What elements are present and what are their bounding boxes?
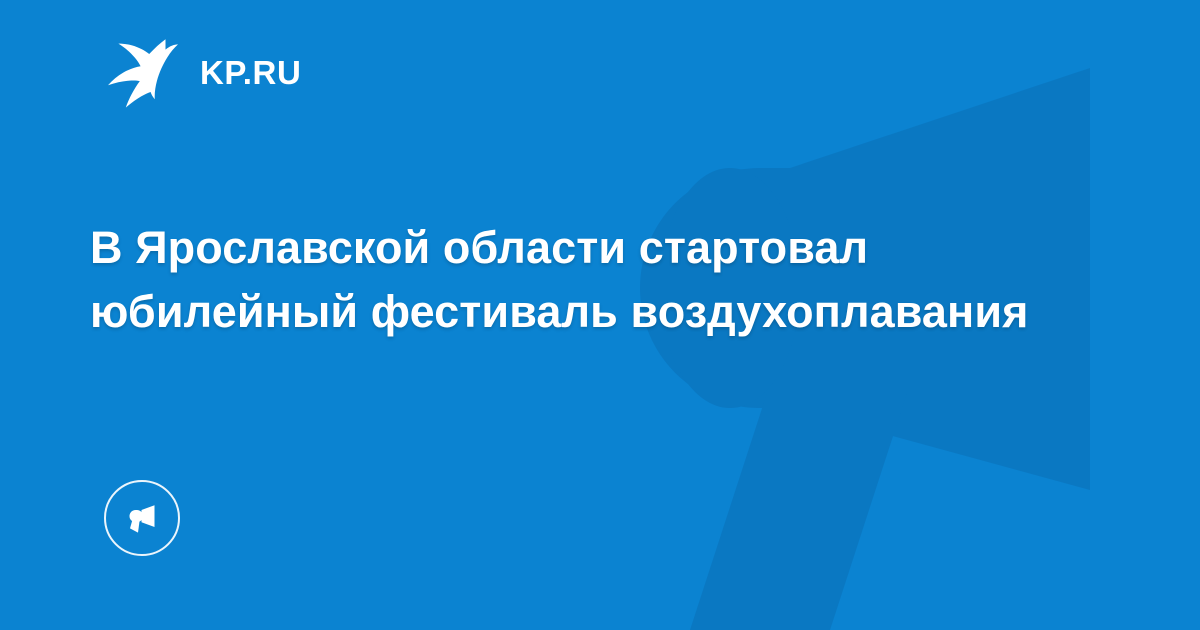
megaphone-icon [124,500,160,536]
megaphone-icon [640,68,1090,630]
swallow-bird-icon [104,36,180,108]
share-card: KP.RU В Ярославской области стартовал юб… [0,0,1200,630]
megaphone-badge-button[interactable] [104,480,180,556]
brand-name: KP.RU [200,56,301,89]
brand-row[interactable]: KP.RU [104,36,301,108]
page-title: В Ярославской области стартовал юбилейны… [90,216,1090,344]
